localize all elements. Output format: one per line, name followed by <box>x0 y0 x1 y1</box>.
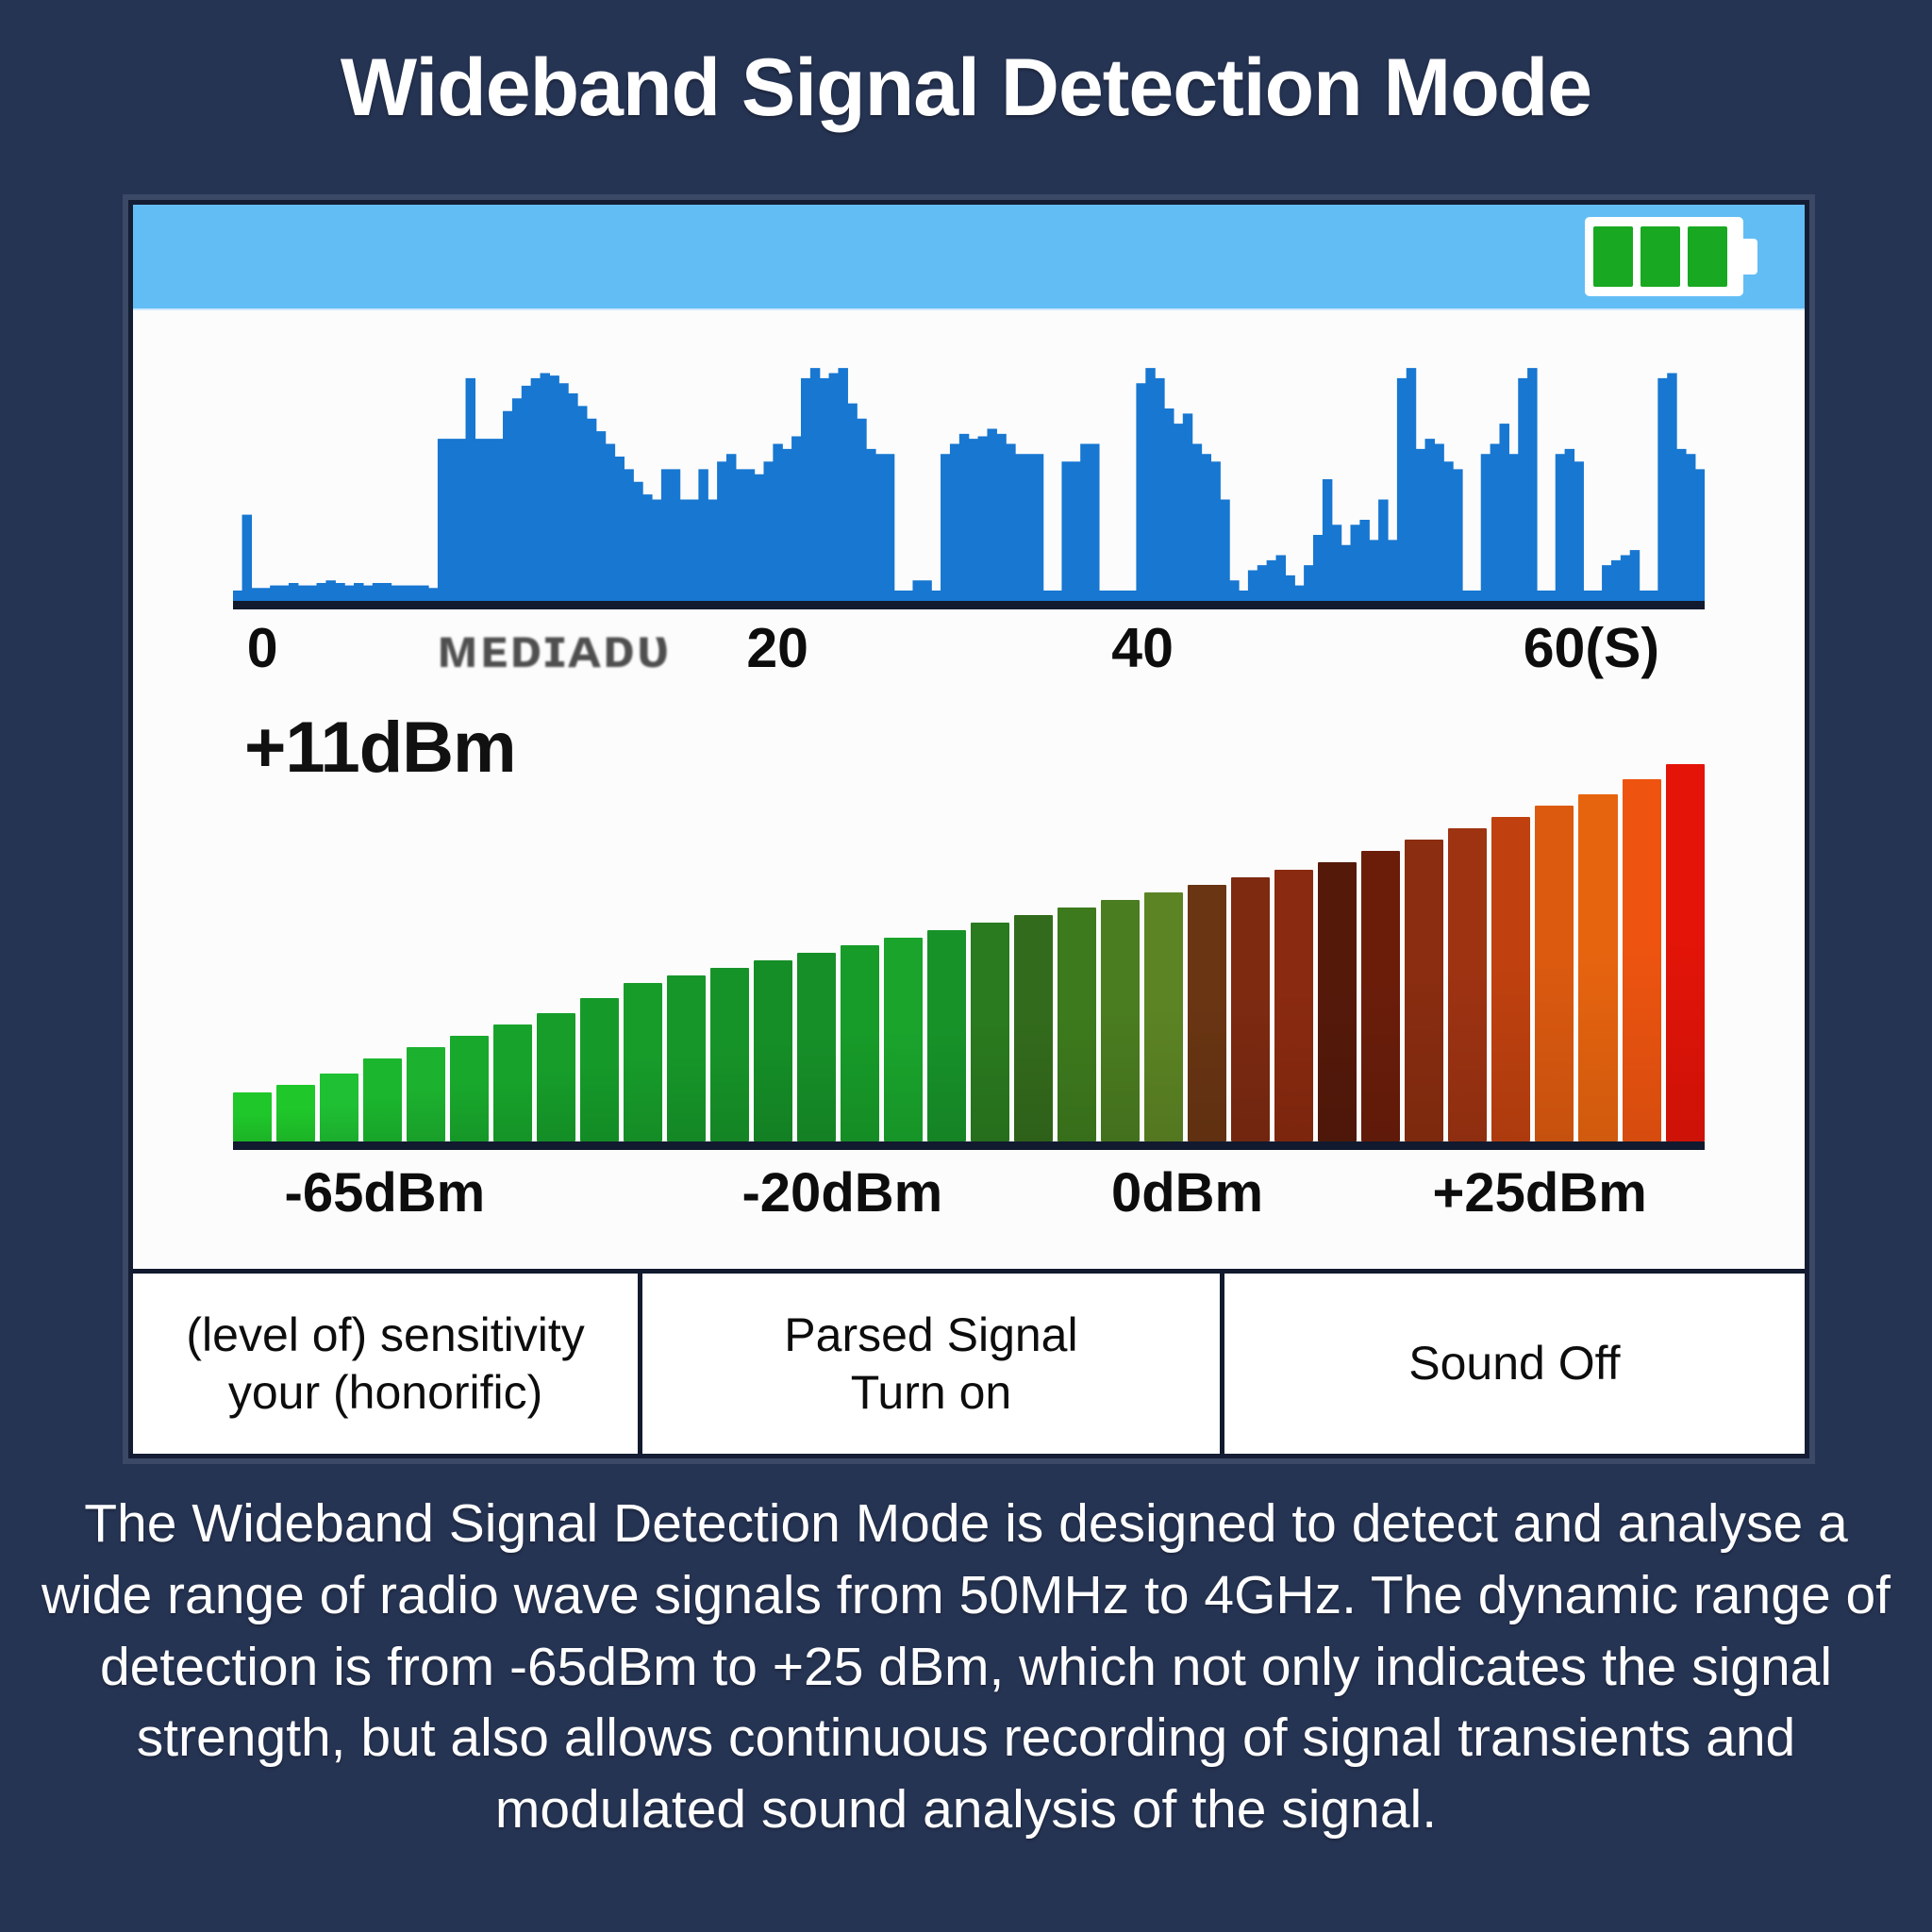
device-header-bar <box>133 205 1805 310</box>
signal-bar <box>1318 862 1357 1141</box>
parsed-signal-button-line1: Parsed Signal <box>784 1307 1077 1364</box>
battery-cell <box>1641 226 1680 287</box>
sound-off-button-line1: Sound Off <box>1408 1335 1620 1392</box>
signal-strength-chart <box>233 754 1705 1150</box>
spectrum-tick-0: 0 <box>247 616 278 680</box>
sound-off-button[interactable]: Sound Off <box>1220 1274 1805 1454</box>
signal-bar <box>1188 885 1226 1141</box>
spectrum-tick-20: 20 <box>746 616 808 680</box>
sensitivity-button-line1: (level of) sensitivity <box>186 1307 584 1364</box>
signal-bar <box>1144 892 1183 1141</box>
signal-bar <box>1666 764 1705 1141</box>
signal-bar <box>1101 900 1140 1141</box>
signal-bar <box>1535 806 1574 1141</box>
parsed-signal-button-line2: Turn on <box>851 1364 1011 1422</box>
signal-bar <box>363 1058 402 1141</box>
signal-bar <box>971 923 1009 1141</box>
battery-nub <box>1742 239 1757 275</box>
signal-bar <box>797 953 836 1141</box>
device-screen: 0 ᴍᴇᴅɪᴀᴅᴜ 20 40 60(S) +11dBm -65dBm -20d… <box>133 310 1805 1454</box>
signal-bars-container <box>233 764 1705 1141</box>
device-panel: 0 ᴍᴇᴅɪᴀᴅᴜ 20 40 60(S) +11dBm -65dBm -20d… <box>128 200 1809 1458</box>
signal-bars-axis-line <box>233 1141 1705 1150</box>
dbm-label-plus25: +25dBm <box>1433 1161 1647 1224</box>
signal-bar <box>320 1074 358 1141</box>
signal-bar <box>624 983 662 1141</box>
battery-icon <box>1585 217 1757 296</box>
dbm-scale-labels: -65dBm -20dBm 0dBm +25dBm <box>220 1161 1720 1237</box>
battery-body <box>1585 217 1743 296</box>
spectrum-tick-60: 60(S) <box>1524 616 1659 680</box>
softkey-button-row: (level of) sensitivity your (honorific) … <box>133 1269 1805 1454</box>
signal-bar <box>276 1085 315 1141</box>
signal-bar <box>1491 817 1530 1141</box>
dbm-label-minus20: -20dBm <box>741 1161 942 1224</box>
signal-bar <box>1274 870 1313 1141</box>
page-root: Wideband Signal Detection Mode 0 <box>0 0 1932 1932</box>
dbm-label-zero: 0dBm <box>1111 1161 1263 1224</box>
signal-bar <box>1014 915 1053 1141</box>
signal-bar <box>1623 779 1661 1141</box>
signal-bar <box>537 1013 575 1141</box>
signal-bar <box>407 1047 445 1141</box>
spectrum-axis-ticks: 0 ᴍᴇᴅɪᴀᴅᴜ 20 40 60(S) <box>233 616 1705 682</box>
signal-bar <box>493 1024 532 1141</box>
parsed-signal-button[interactable]: Parsed Signal Turn on <box>638 1274 1220 1454</box>
page-title: Wideband Signal Detection Mode <box>0 45 1932 130</box>
dbm-label-minus65: -65dBm <box>285 1161 486 1224</box>
signal-bar <box>1405 840 1443 1141</box>
signal-bar <box>1578 794 1617 1141</box>
signal-bar <box>841 945 879 1141</box>
description-text: The Wideband Signal Detection Mode is de… <box>38 1489 1894 1846</box>
spectrum-chart: 0 ᴍᴇᴅɪᴀᴅᴜ 20 40 60(S) <box>233 348 1705 659</box>
signal-bar <box>927 930 966 1141</box>
signal-bar <box>754 960 792 1141</box>
signal-bar <box>1448 828 1487 1141</box>
spectrum-trace <box>233 348 1705 601</box>
battery-cell <box>1688 226 1727 287</box>
signal-bar <box>1058 908 1096 1141</box>
signal-bar <box>233 1092 272 1141</box>
battery-cell <box>1593 226 1633 287</box>
signal-bar <box>710 968 749 1141</box>
signal-bar <box>1231 877 1270 1141</box>
signal-bar <box>1361 851 1400 1141</box>
signal-bar <box>450 1036 489 1141</box>
signal-bar <box>580 998 619 1141</box>
signal-bar <box>884 938 923 1141</box>
spectrum-tick-40: 40 <box>1111 616 1174 680</box>
sensitivity-button-line2: your (honorific) <box>228 1364 542 1422</box>
spectrum-axis-line <box>233 601 1705 609</box>
spectrum-tick-artifact: ᴍᴇᴅɪᴀᴅᴜ <box>437 616 671 680</box>
signal-bar <box>667 975 706 1141</box>
sensitivity-button[interactable]: (level of) sensitivity your (honorific) <box>133 1274 638 1454</box>
